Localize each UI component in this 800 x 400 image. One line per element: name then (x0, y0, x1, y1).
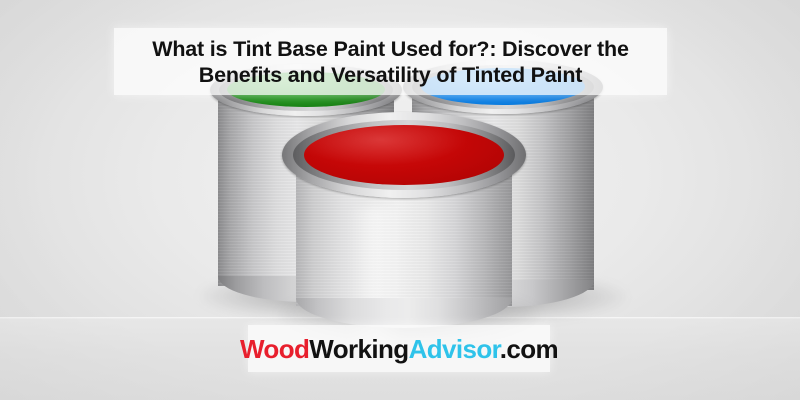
logo-part-working: Working (309, 334, 408, 364)
page-title-line-1: What is Tint Base Paint Used for?: Disco… (152, 36, 628, 62)
logo-part-wood: Wood (240, 334, 309, 364)
page-title-line-2: Benefits and Versatility of Tinted Paint (199, 62, 582, 88)
site-logo-banner: WoodWorkingAdvisor.com (248, 325, 550, 372)
logo-part-advisor: Advisor (409, 334, 500, 364)
logo-part-com: .com (500, 334, 558, 364)
featured-image-canvas: What is Tint Base Paint Used for?: Disco… (0, 0, 800, 400)
red-paint-surface (304, 125, 504, 185)
title-banner: What is Tint Base Paint Used for?: Disco… (114, 28, 667, 95)
red-paint-can (282, 112, 528, 334)
site-logo: WoodWorkingAdvisor.com (240, 336, 558, 362)
